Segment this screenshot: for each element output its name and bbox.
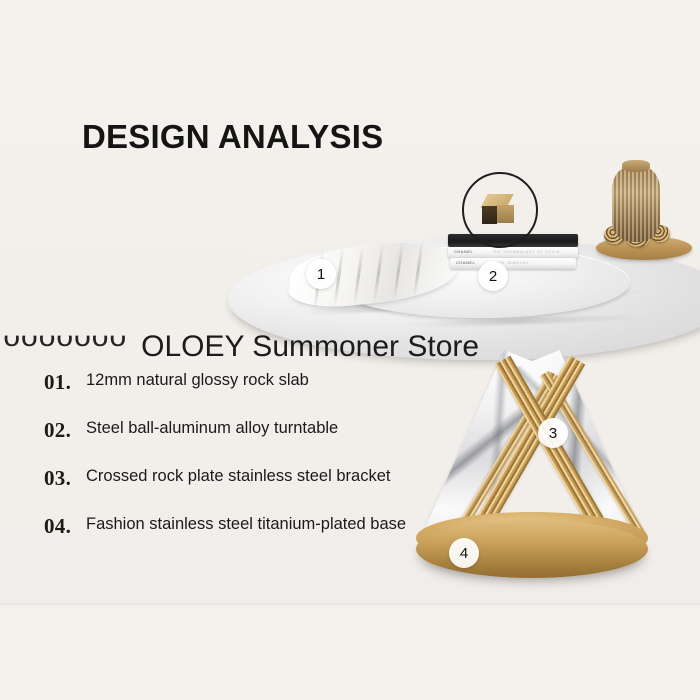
amber-ribbed-vase (612, 166, 660, 242)
callout-badge-2[interactable]: 2 (478, 261, 508, 291)
spec-number: 03. (44, 466, 71, 491)
spec-number: 02. (44, 418, 71, 443)
spec-label: 12mm natural glossy rock slab (86, 371, 309, 390)
book-white-upper: CHANEL THE VOCABULARY OF STYLE (448, 247, 578, 258)
cube-sculpture (482, 194, 516, 224)
watermark-store-name: OLOEY Summoner Store (141, 330, 479, 364)
spec-item-02: 02. Steel ball-aluminum alloy turntable (44, 414, 514, 462)
book-white-lower: CHANEL FINE JEWELRY (450, 258, 576, 269)
page-title: DESIGN ANALYSIS (82, 118, 383, 156)
gold-cube-ornament (462, 172, 538, 248)
spec-label: Crossed rock plate stainless steel brack… (86, 467, 390, 486)
spec-list: 01. 12mm natural glossy rock slab 02. St… (44, 366, 514, 558)
vase-neck (622, 160, 650, 172)
design-analysis-slide: CHANEL THE VOCABULARY OF STYLE CHANEL FI… (0, 0, 700, 700)
book-brand-label: CHANEL (456, 260, 475, 265)
spec-label: Fashion stainless steel titanium-plated … (86, 515, 406, 534)
spec-label: Steel ball-aluminum alloy turntable (86, 419, 338, 438)
store-watermark: ıoooooooOLOEY Summoner Store (0, 330, 700, 370)
book-title-label: THE VOCABULARY OF STYLE (492, 249, 560, 254)
spec-item-03: 03. Crossed rock plate stainless steel b… (44, 462, 514, 510)
watermark-clipped-glyphs: ıooooooo (0, 330, 127, 354)
spec-number: 01. (44, 370, 71, 395)
spec-item-04: 04. Fashion stainless steel titanium-pla… (44, 510, 514, 558)
callout-badge-3[interactable]: 3 (538, 418, 568, 448)
book-brand-label: CHANEL (454, 249, 473, 254)
callout-badge-1[interactable]: 1 (306, 259, 336, 289)
spec-item-01: 01. 12mm natural glossy rock slab (44, 366, 514, 414)
spec-number: 04. (44, 514, 71, 539)
